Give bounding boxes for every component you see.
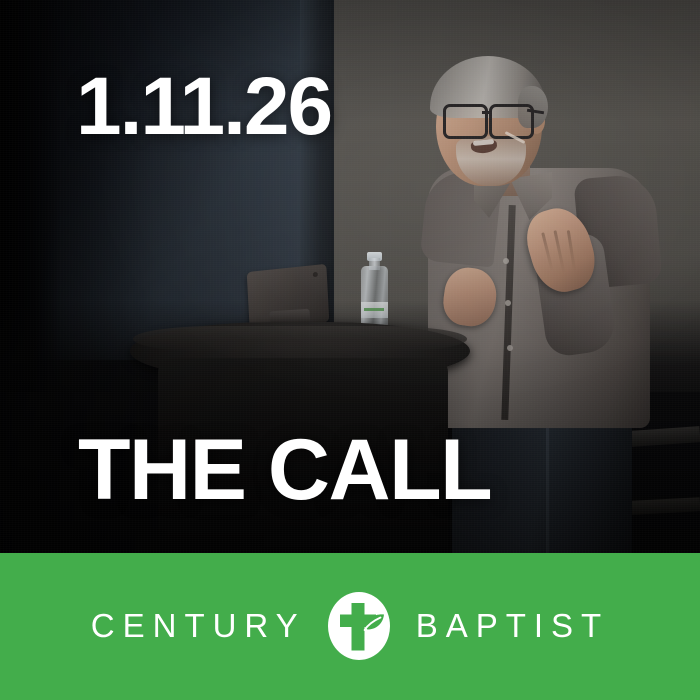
sermon-series-graphic: 1.11.26 THE CALL CENTURY BAPTIST	[0, 0, 700, 700]
brand-footer-bar: CENTURY BAPTIST	[0, 553, 700, 700]
shirt-button	[505, 300, 511, 306]
tablet-camera-icon	[313, 272, 318, 278]
brand-lockup: CENTURY BAPTIST	[91, 590, 609, 662]
series-title: THE CALL	[78, 427, 491, 513]
water-bottle	[361, 252, 388, 328]
glasses-lens-left	[443, 104, 488, 139]
podium-rim	[133, 326, 467, 352]
glasses-bridge	[482, 111, 491, 114]
bottle-label	[361, 302, 388, 318]
brand-word-baptist: BAPTIST	[416, 609, 610, 642]
bottle-label-stripe	[364, 308, 384, 311]
brand-word-century: CENTURY	[91, 609, 306, 642]
bottle-body	[361, 266, 388, 328]
shirt-button	[503, 258, 509, 264]
cross-and-leaf-in-circle-icon	[326, 590, 392, 662]
shirt-button	[507, 345, 513, 351]
service-date: 1.11.26	[76, 66, 331, 148]
